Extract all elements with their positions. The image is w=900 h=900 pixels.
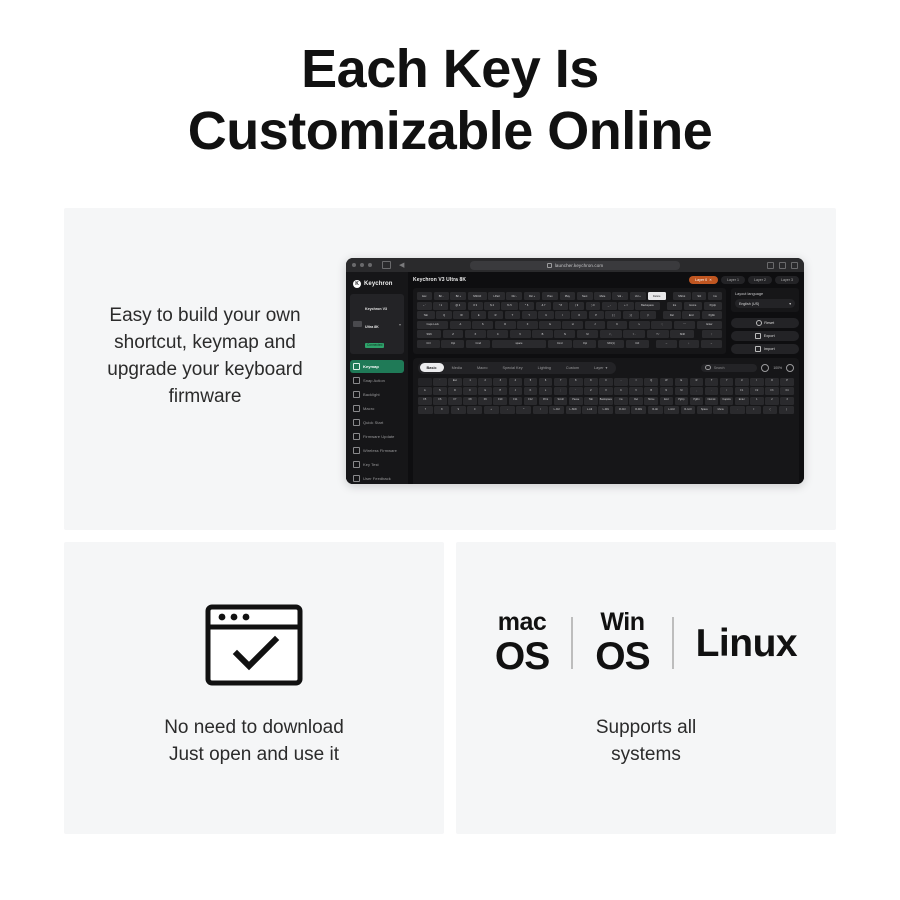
- keyboard-key[interactable]: L: [629, 321, 650, 329]
- picker-key[interactable]: .: [730, 406, 745, 414]
- picker-key[interactable]: O: [765, 378, 779, 386]
- keyboard-key[interactable]: Delete: [648, 292, 666, 300]
- picker-key[interactable]: 2: [478, 378, 492, 386]
- picker-key[interactable]: L-Shift: [566, 406, 581, 414]
- tabs-overview-icon[interactable]: [791, 262, 798, 269]
- picker-tab-basic[interactable]: Basic: [420, 363, 444, 372]
- picker-tab-label: Basic: [427, 366, 437, 370]
- new-tab-icon[interactable]: [779, 262, 786, 269]
- picker-key[interactable]: B: [644, 387, 658, 395]
- keyboard-key[interactable]: K: [607, 321, 628, 329]
- keyboard-key[interactable]: Vol -: [612, 292, 628, 300]
- picker-key[interactable]: +: [484, 406, 499, 414]
- keyboard-key[interactable]: J: [585, 321, 605, 329]
- firmware-update-icon: [353, 433, 360, 440]
- picker-key[interactable]: NumLk: [705, 397, 719, 405]
- picker-key[interactable]: F9: [478, 397, 492, 405]
- keyboard-key[interactable]: Ins: [708, 292, 722, 300]
- right-panel: Layout language English (US) ▾ ResetExpo…: [731, 288, 799, 354]
- key-picker-tabs: BasicMediaMacroSpecial KeyLightingCustom…: [418, 362, 794, 374]
- picker-key[interactable]: Print: [539, 397, 553, 405]
- picker-key[interactable]: F12: [524, 397, 538, 405]
- keyboard-row: EscBri -Bri +MSCtrlLPadDic -Dic +PrevPla…: [417, 292, 722, 300]
- picker-key[interactable]: X: [599, 387, 613, 395]
- os-logo-row: mac OS Win OS Linux: [476, 604, 816, 682]
- sidebar-item-label: User Feedback: [363, 476, 391, 481]
- app-sidebar: K Keychron Keychron V3 Ultra 8K Connecte…: [346, 272, 408, 484]
- device-status-badge: Connected: [365, 343, 384, 348]
- keyboard-key[interactable]: E: [471, 311, 486, 319]
- picker-key[interactable]: F3: [765, 387, 779, 395]
- keyboard-row: TabQWERTYUIOP{ [} ]| \DelEndPgDn: [417, 311, 722, 319]
- picker-key[interactable]: Enter: [735, 397, 749, 405]
- picker-tab-media[interactable]: Media: [445, 363, 469, 372]
- layer-tab-layer-3[interactable]: Layer 3: [775, 276, 799, 284]
- picker-key[interactable]: I: [750, 378, 764, 386]
- layout-language-box: Layout language English (US) ▾: [731, 288, 799, 312]
- keyboard-key[interactable]: D: [495, 321, 516, 329]
- keyboard-key[interactable]: PgDn: [702, 311, 722, 319]
- keyboard-key[interactable]: Ctrl: [626, 340, 649, 348]
- keyboard-key[interactable]: Vol +: [630, 292, 646, 300]
- keyboard-row: CtrlOptCmdspaceCmdOptMO(1)Ctrl←↓→: [417, 340, 722, 348]
- keyboard-key[interactable]: I: [555, 311, 569, 319]
- keyboard-key[interactable]: " ': [674, 321, 695, 329]
- keyboard-key[interactable]: ! 1: [433, 302, 448, 310]
- keyboard-key[interactable]: Ins: [667, 302, 682, 310]
- layout-language-select[interactable]: English (US) ▾: [735, 299, 795, 308]
- keyboard-key[interactable]: →: [701, 340, 722, 348]
- keyboard-key[interactable]: End: [682, 311, 700, 319]
- keyboard-key[interactable]: Bri -: [434, 292, 449, 300]
- keyboard-key[interactable]: < ,: [600, 330, 622, 338]
- picker-key[interactable]: 3: [493, 378, 507, 386]
- keyboard-key[interactable]: Play: [560, 292, 576, 300]
- keyboard-key[interactable]: Y: [522, 311, 537, 319]
- keyboard-key[interactable]: SShot: [673, 292, 691, 300]
- picker-key[interactable]: 9: [451, 406, 466, 414]
- keyboard-key[interactable]: W: [453, 311, 469, 319]
- picker-key[interactable]: ': [569, 387, 583, 395]
- sidebar-item-keymap[interactable]: Keymap: [350, 360, 404, 373]
- keyboard-key[interactable]: S: [472, 321, 493, 329]
- search-input[interactable]: Search: [701, 364, 757, 372]
- import-icon: [755, 346, 761, 352]
- os-macos-prefix: mac: [498, 610, 547, 635]
- feature-card-os-support: [456, 542, 836, 834]
- browser-window-check-icon: [205, 604, 303, 686]
- picker-key[interactable]: S: [433, 387, 447, 395]
- picker-key[interactable]: 2: [765, 397, 779, 405]
- picker-key[interactable]: 8: [434, 406, 449, 414]
- picker-key[interactable]: F5: [418, 397, 432, 405]
- keyboard-key[interactable]: Opt: [441, 340, 464, 348]
- picker-tab-macro[interactable]: Macro: [470, 363, 495, 372]
- picker-key[interactable]: Space: [697, 406, 712, 414]
- feature-card-top-copy: Easy to build your own shortcut, keymap …: [80, 302, 330, 410]
- keyboard-key[interactable]: Z: [443, 330, 464, 338]
- picker-key[interactable]: 1: [750, 397, 764, 405]
- os-macos: mac OS: [495, 610, 549, 676]
- picker-key[interactable]: F: [463, 387, 477, 395]
- keyboard-key[interactable]: & 7: [536, 302, 552, 310]
- keyboard-key[interactable]: R: [488, 311, 503, 319]
- zoom-in-icon[interactable]: [786, 364, 794, 372]
- picker-key[interactable]: F8: [463, 397, 477, 405]
- picker-key[interactable]: ;: [554, 387, 568, 395]
- layer-tab-layer-2[interactable]: Layer 2: [748, 276, 772, 284]
- layer-tab-label: Layer 2: [754, 278, 766, 282]
- main-header: Keychron V3 Ultra 8K Layer 0✕Layer 1Laye…: [413, 276, 799, 284]
- picker-key[interactable]: Y: [720, 378, 734, 386]
- keyboard-key[interactable]: H: [562, 321, 583, 329]
- sidebar-item-key-test[interactable]: Key Test: [350, 458, 404, 471]
- picker-key[interactable]: Tab: [584, 397, 598, 405]
- keyboard-row: Caps LockASDFGHJKL: ;" 'Enter: [417, 321, 722, 329]
- picker-key[interactable]: L-Alt: [582, 406, 597, 414]
- picker-key[interactable]: -: [500, 406, 515, 414]
- user-feedback-icon: [353, 475, 360, 482]
- keyboard-gap: [696, 330, 700, 338]
- key-picker-grid: `Esc1234567890-=QWERTYUIOPASDFGHJKL;'ZXC…: [418, 378, 794, 415]
- keyboard-gap: [661, 302, 665, 310]
- picker-tab-label: Media: [452, 366, 462, 370]
- keyboard-key[interactable]: Prev: [542, 292, 558, 300]
- picker-key[interactable]: 3: [780, 397, 794, 405]
- keyboard-key[interactable]: ~ `: [417, 302, 432, 310]
- button-label: Import: [764, 347, 775, 351]
- picker-key[interactable]: -: [614, 378, 628, 386]
- keyboard-key[interactable]: Mute: [594, 292, 610, 300]
- share-icon[interactable]: [767, 262, 774, 269]
- sidebar-item-label: Key Test: [363, 462, 379, 467]
- picker-key[interactable]: A: [418, 387, 432, 395]
- picker-key[interactable]: M: [675, 387, 689, 395]
- keyboard-key[interactable]: MO(1): [598, 340, 624, 348]
- layer-tab-label: Layer 1: [727, 278, 739, 282]
- headline-line-1: Each Key Is: [301, 39, 599, 99]
- keyboard-row: ~ `! 1@ 2# 3$ 4% 5^ 6& 7* 8( 9) 0_ -+ =B…: [417, 302, 722, 310]
- keyboard-key[interactable]: Dic +: [524, 292, 541, 300]
- os-macos-suffix: OS: [495, 637, 549, 676]
- keyboard-key[interactable]: Ctrl: [417, 340, 440, 348]
- product-feature-page: Each Key Is Customizable Online Easy to …: [0, 0, 900, 900]
- os-linux: Linux: [696, 624, 798, 663]
- feature-card-bl-copy: No need to download Just open and use it: [84, 714, 424, 768]
- launcher-app: K Keychron Keychron V3 Ultra 8K Connecte…: [346, 272, 804, 484]
- layer-tab-layer-1[interactable]: Layer 1: [721, 276, 745, 284]
- feature-card-no-download: [64, 542, 444, 834]
- keyboard-key[interactable]: Backspace: [635, 302, 659, 310]
- picker-key[interactable]: F6: [433, 397, 447, 405]
- picker-grid-row: ASDFGHJKL;'ZXCVBNM,./F1F2F3F4: [418, 387, 794, 395]
- keyboard-key[interactable]: PgUp: [704, 302, 722, 310]
- keyboard-key[interactable]: Enter: [697, 321, 722, 329]
- browser-toolbar-right: [767, 262, 798, 269]
- keyboard-key[interactable]: Shift: [670, 330, 694, 338]
- picker-key[interactable]: Backspace: [599, 397, 613, 405]
- snap-action-icon: [353, 377, 360, 384]
- picker-key[interactable]: 7: [418, 406, 433, 414]
- layer-tab-label: Layer 0: [695, 278, 707, 282]
- keyboard-key[interactable]: Caps Lock: [417, 321, 448, 329]
- picker-key[interactable]: Scroll: [554, 397, 568, 405]
- picker-key[interactable]: L-Ctrl: [549, 406, 564, 414]
- keyboard-key[interactable]: ? /: [647, 330, 669, 338]
- picker-key[interactable]: R-GUI: [681, 406, 696, 414]
- picker-key[interactable]: F4: [780, 387, 794, 395]
- keyboard-key[interactable]: Shift: [417, 330, 441, 338]
- keyboard-key[interactable]: | \: [640, 311, 656, 319]
- keyboard-key[interactable]: Cmd: [548, 340, 572, 348]
- os-divider-1: [571, 617, 573, 669]
- browser-url-text: launcher.keychron.com: [555, 263, 603, 268]
- device-selector[interactable]: Keychron V3 Ultra 8K Connected ▾: [350, 294, 404, 354]
- picker-key[interactable]: Ins: [614, 397, 628, 405]
- picker-tab-label: Macro: [477, 366, 488, 370]
- chevron-down-icon: ▾: [789, 302, 791, 306]
- picker-key[interactable]: /: [720, 387, 734, 395]
- sidebar-item-user-feedback[interactable]: User Feedback: [350, 472, 404, 484]
- zoom-level: 100%: [773, 366, 782, 370]
- keyboard-key[interactable]: C: [487, 330, 508, 338]
- sidebar-item-quick-start[interactable]: Quick Start: [350, 416, 404, 429]
- keyboard-key[interactable]: > .: [623, 330, 645, 338]
- keyboard-key[interactable]: Q: [436, 311, 452, 319]
- keyboard-key[interactable]: ^ 6: [519, 302, 534, 310]
- picker-key[interactable]: G: [478, 387, 492, 395]
- app-main: Keychron V3 Ultra 8K Layer 0✕Layer 1Laye…: [408, 272, 804, 484]
- chevron-down-icon[interactable]: ▾: [399, 322, 401, 327]
- keyboard-key[interactable]: Home: [684, 302, 703, 310]
- keyboard-key[interactable]: { [: [605, 311, 621, 319]
- keyboard-key[interactable]: MSCtrl: [468, 292, 487, 300]
- headline-line-2: Customizable Online: [0, 100, 900, 162]
- picker-tab-label: Special Key: [503, 366, 523, 370]
- traffic-light-maximize-icon[interactable]: [368, 263, 372, 267]
- keyboard-key[interactable]: } ]: [623, 311, 639, 319]
- keyboard-key[interactable]: % 5: [501, 302, 517, 310]
- picker-tab-special-key[interactable]: Special Key: [496, 363, 530, 372]
- picker-key[interactable]: .: [705, 387, 719, 395]
- keyboard-key[interactable]: LPad: [488, 292, 505, 300]
- picker-key[interactable]: Z: [584, 387, 598, 395]
- traffic-light-close-icon[interactable]: [352, 263, 356, 267]
- reset-icon: [756, 320, 762, 326]
- picker-key[interactable]: K: [524, 387, 538, 395]
- picker-key[interactable]: =: [746, 406, 761, 414]
- picker-key[interactable]: W: [660, 378, 674, 386]
- br-copy-line-1: Supports all: [476, 714, 816, 741]
- picker-key[interactable]: L-Win: [598, 406, 613, 414]
- os-winos: Win OS: [595, 610, 649, 676]
- picker-tab-layer[interactable]: Layer▾: [587, 363, 614, 372]
- picker-key[interactable]: R-Win: [631, 406, 646, 414]
- keyboard-key[interactable]: F: [517, 321, 538, 329]
- clear-layer-icon[interactable]: ✕: [709, 278, 712, 282]
- reset-button[interactable]: Reset: [731, 318, 799, 328]
- keyboard-key[interactable]: Opt: [573, 340, 596, 348]
- button-label: Export: [764, 334, 775, 338]
- sidebar-item-label: Snap Action: [363, 378, 385, 383]
- picker-key[interactable]: /: [533, 406, 548, 414]
- picker-key[interactable]: CapsLk: [720, 397, 734, 405]
- picker-key[interactable]: Menu: [713, 406, 728, 414]
- picker-key[interactable]: Del: [629, 397, 643, 405]
- picker-key[interactable]: J: [509, 387, 523, 395]
- picker-key[interactable]: *: [516, 406, 531, 414]
- search-icon: [705, 365, 711, 371]
- keyboard-icon: [353, 321, 362, 327]
- keyboard-key[interactable]: G: [539, 321, 560, 329]
- picker-key[interactable]: =: [629, 378, 643, 386]
- keyboard-key[interactable]: Cmd: [466, 340, 490, 348]
- sidebar-item-wireless-firmware[interactable]: Wireless Firmware: [350, 444, 404, 457]
- picker-key[interactable]: L-GUI: [664, 406, 679, 414]
- keyboard-key[interactable]: V: [510, 330, 531, 338]
- keyboard-key[interactable]: $ 4: [484, 302, 499, 310]
- picker-key[interactable]: H: [493, 387, 507, 395]
- keyboard-gap: [650, 340, 654, 348]
- keyboard-key[interactable]: M: [577, 330, 598, 338]
- picker-key[interactable]: P: [780, 378, 794, 386]
- keyboard-key[interactable]: B: [532, 330, 553, 338]
- picker-key[interactable]: ,: [690, 387, 704, 395]
- picker-key[interactable]: 8: [569, 378, 583, 386]
- picker-key[interactable]: U: [735, 378, 749, 386]
- keyboard-key[interactable]: ↑: [702, 330, 722, 338]
- export-button[interactable]: Export: [731, 331, 799, 341]
- keyboard-key[interactable]: T: [505, 311, 520, 319]
- keymap-area: EscBri -Bri +MSCtrlLPadDic -Dic +PrevPla…: [413, 288, 799, 354]
- keyboard-gap: [657, 311, 661, 319]
- picker-key[interactable]: ): [779, 406, 794, 414]
- sidebar-item-backlight[interactable]: Backlight: [350, 388, 404, 401]
- right-panel-actions: ResetExportImport: [731, 318, 799, 354]
- picker-key[interactable]: V: [629, 387, 643, 395]
- keyboard-key[interactable]: # 3: [468, 302, 483, 310]
- keyboard-key[interactable]: _ -: [602, 302, 617, 310]
- os-winos-prefix: Win: [600, 610, 644, 635]
- import-button[interactable]: Import: [731, 344, 799, 354]
- picker-key[interactable]: D: [448, 387, 462, 395]
- device-name-line1: Keychron V3: [365, 307, 387, 311]
- picker-key[interactable]: L: [539, 387, 553, 395]
- traffic-light-minimize-icon[interactable]: [360, 263, 364, 267]
- picker-key[interactable]: 1: [463, 378, 477, 386]
- keyboard-key[interactable]: space: [492, 340, 546, 348]
- picker-key[interactable]: Pause: [569, 397, 583, 405]
- keyboard-key[interactable]: * 8: [553, 302, 568, 310]
- sidebar-item-macro[interactable]: Macro: [350, 402, 404, 415]
- keyboard-key[interactable]: Esc: [417, 292, 432, 300]
- os-linux-label: Linux: [696, 624, 798, 663]
- layout-language-value: English (US): [739, 302, 759, 306]
- key-test-icon: [353, 461, 360, 468]
- bl-copy-line-2: Just open and use it: [84, 741, 424, 768]
- sidebar-toggle-icon[interactable]: [382, 261, 391, 269]
- os-winos-suffix: OS: [595, 637, 649, 676]
- picker-key[interactable]: F7: [448, 397, 462, 405]
- keyboard-key[interactable]: : ;: [651, 321, 672, 329]
- picker-key[interactable]: F1: [735, 387, 749, 395]
- bl-copy-line-1: No need to download: [84, 714, 424, 741]
- picker-key[interactable]: 7: [554, 378, 568, 386]
- picker-key[interactable]: N: [660, 387, 674, 395]
- keyboard-key[interactable]: Next: [577, 292, 593, 300]
- sidebar-item-label: Quick Start: [363, 420, 383, 425]
- keyboard-key[interactable]: Dic -: [506, 292, 522, 300]
- keyboard-key[interactable]: ←: [656, 340, 677, 348]
- picker-key[interactable]: Q: [644, 378, 658, 386]
- picker-key[interactable]: F10: [493, 397, 507, 405]
- keyboard-key[interactable]: Del: [663, 311, 680, 319]
- key-picker-panel: BasicMediaMacroSpecial KeyLightingCustom…: [413, 358, 799, 484]
- zoom-out-icon[interactable]: [761, 364, 769, 372]
- picker-key[interactable]: E: [675, 378, 689, 386]
- picker-key[interactable]: End: [660, 397, 674, 405]
- keyboard-key[interactable]: A: [450, 321, 471, 329]
- picker-tab-custom[interactable]: Custom: [559, 363, 586, 372]
- keyboard-key[interactable]: ↓: [679, 340, 699, 348]
- keyboard-key[interactable]: ) 0: [586, 302, 601, 310]
- picker-key[interactable]: (: [763, 406, 778, 414]
- keyboard-key[interactable]: Bri +: [450, 292, 466, 300]
- page-title: Each Key Is Customizable Online: [0, 38, 900, 162]
- picker-key[interactable]: 0: [599, 378, 613, 386]
- picker-key[interactable]: T: [705, 378, 719, 386]
- keyboard-key[interactable]: @ 2: [450, 302, 466, 310]
- keyboard-key[interactable]: U: [538, 311, 553, 319]
- picker-tab-lighting[interactable]: Lighting: [531, 363, 558, 372]
- keyboard-key[interactable]: O: [571, 311, 587, 319]
- picker-key[interactable]: R-Ctrl: [615, 406, 630, 414]
- picker-key[interactable]: Esc: [448, 378, 462, 386]
- browser-address-bar[interactable]: launcher.keychron.com: [470, 261, 680, 270]
- picker-key[interactable]: 5: [524, 378, 538, 386]
- picker-key[interactable]: R-Alt: [648, 406, 663, 414]
- keyboard-key[interactable]: P: [589, 311, 604, 319]
- sidebar-item-snap-action[interactable]: Snap Action: [350, 374, 404, 387]
- picker-key[interactable]: `: [433, 378, 447, 386]
- sidebar-item-firmware-update[interactable]: Firmware Update: [350, 430, 404, 443]
- picker-key[interactable]: Home: [644, 397, 658, 405]
- back-chevron-icon[interactable]: ◀: [399, 262, 404, 269]
- picker-key[interactable]: PgUp: [675, 397, 689, 405]
- picker-key[interactable]: F11: [509, 397, 523, 405]
- keyboard-key[interactable]: ( 9: [569, 302, 584, 310]
- brand-name: Keychron: [364, 281, 392, 287]
- keyboard-key[interactable]: Tab: [417, 311, 435, 319]
- picker-key[interactable]: 0: [467, 406, 482, 414]
- picker-key[interactable]: 6: [539, 378, 553, 386]
- keyboard-key[interactable]: Siri: [692, 292, 706, 300]
- keyboard-key[interactable]: X: [465, 330, 486, 338]
- keyboard-key[interactable]: + =: [618, 302, 633, 310]
- picker-key[interactable]: [418, 378, 432, 386]
- picker-key[interactable]: 9: [584, 378, 598, 386]
- picker-key[interactable]: R: [690, 378, 704, 386]
- picker-key[interactable]: C: [614, 387, 628, 395]
- picker-tab-label: Lighting: [538, 366, 551, 370]
- picker-key[interactable]: PgDn: [690, 397, 704, 405]
- picker-key[interactable]: F2: [750, 387, 764, 395]
- export-icon: [755, 333, 761, 339]
- picker-key[interactable]: 4: [509, 378, 523, 386]
- layer-tab-layer-0[interactable]: Layer 0✕: [689, 276, 718, 284]
- keyboard-key[interactable]: N: [554, 330, 575, 338]
- picker-grid-row: F5F6F7F8F9F10F11F12PrintScrollPauseTabBa…: [418, 397, 794, 405]
